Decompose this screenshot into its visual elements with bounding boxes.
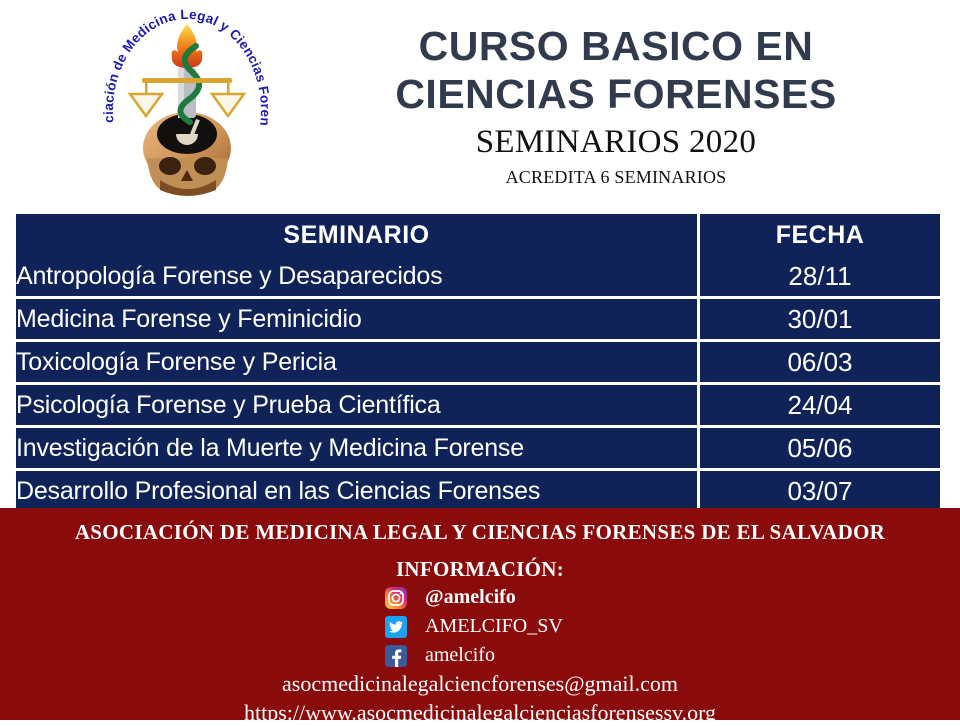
amelcifo-logo: Asociación de Medicina Legal y Ciencias … — [92, 6, 282, 204]
table-header-row: SEMINARIO FECHA — [16, 214, 940, 256]
page-title-line-2: CIENCIAS FORENSES — [286, 70, 946, 118]
instagram-row[interactable]: @amelcifo — [0, 584, 960, 611]
seminar-name: Toxicología Forense y Pericia — [16, 342, 700, 385]
table-row: Investigación de la Muerte y Medicina Fo… — [16, 428, 940, 471]
seminar-name: Psicología Forense y Prueba Científica — [16, 385, 700, 428]
seminar-schedule-table: SEMINARIO FECHA Antropología Forense y D… — [16, 214, 940, 511]
twitter-handle[interactable]: AMELCIFO_SV — [425, 615, 575, 638]
seminar-date: 03/07 — [700, 471, 940, 511]
title-block: CURSO BASICO EN CIENCIAS FORENSES SEMINA… — [286, 22, 946, 189]
facebook-row[interactable]: amelcifo — [0, 642, 960, 669]
seminar-name: Antropología Forense y Desaparecidos — [16, 256, 700, 299]
table-row: Toxicología Forense y Pericia 06/03 — [16, 342, 940, 385]
column-header-fecha: FECHA — [700, 214, 940, 256]
seminar-name: Desarrollo Profesional en las Ciencias F… — [16, 471, 700, 511]
poster-header: Asociación de Medicina Legal y Ciencias … — [0, 0, 960, 208]
instagram-handle[interactable]: @amelcifo — [425, 586, 575, 609]
seminar-date: 30/01 — [700, 299, 940, 342]
scales-icon — [142, 78, 232, 83]
page-title-line-1: CURSO BASICO EN — [286, 22, 946, 70]
twitter-row[interactable]: AMELCIFO_SV — [0, 613, 960, 640]
table-row: Medicina Forense y Feminicidio 30/01 — [16, 299, 940, 342]
contact-footer: ASOCIACIÓN DE MEDICINA LEGAL Y CIENCIAS … — [0, 508, 960, 720]
svg-text:Rx: Rx — [181, 135, 193, 146]
page-title: CURSO BASICO EN CIENCIAS FORENSES — [286, 22, 946, 118]
subtitle: SEMINARIOS 2020 — [286, 122, 946, 162]
info-label: INFORMACIÓN: — [0, 545, 960, 582]
website-url[interactable]: https://www.asocmedicinalegalcienciasfor… — [0, 700, 960, 726]
email-address[interactable]: asocmedicinalegalciencforenses@gmail.com — [0, 671, 960, 697]
seminar-date: 06/03 — [700, 342, 940, 385]
seminar-date: 24/04 — [700, 385, 940, 428]
table-row: Desarrollo Profesional en las Ciencias F… — [16, 471, 940, 511]
table-row: Psicología Forense y Prueba Científica 2… — [16, 385, 940, 428]
seminar-name: Investigación de la Muerte y Medicina Fo… — [16, 428, 700, 471]
seminar-date: 05/06 — [700, 428, 940, 471]
seminar-date: 28/11 — [700, 256, 940, 299]
facebook-handle[interactable]: amelcifo — [425, 644, 575, 667]
organization-name: ASOCIACIÓN DE MEDICINA LEGAL Y CIENCIAS … — [0, 508, 960, 545]
column-header-seminario: SEMINARIO — [16, 214, 700, 256]
twitter-icon[interactable] — [385, 616, 407, 638]
facebook-icon[interactable] — [385, 645, 407, 667]
instagram-icon[interactable] — [385, 587, 407, 609]
accreditation-note: ACREDITA 6 SEMINARIOS — [286, 165, 946, 189]
seminar-name: Medicina Forense y Feminicidio — [16, 299, 700, 342]
table-row: Antropología Forense y Desaparecidos 28/… — [16, 256, 940, 299]
